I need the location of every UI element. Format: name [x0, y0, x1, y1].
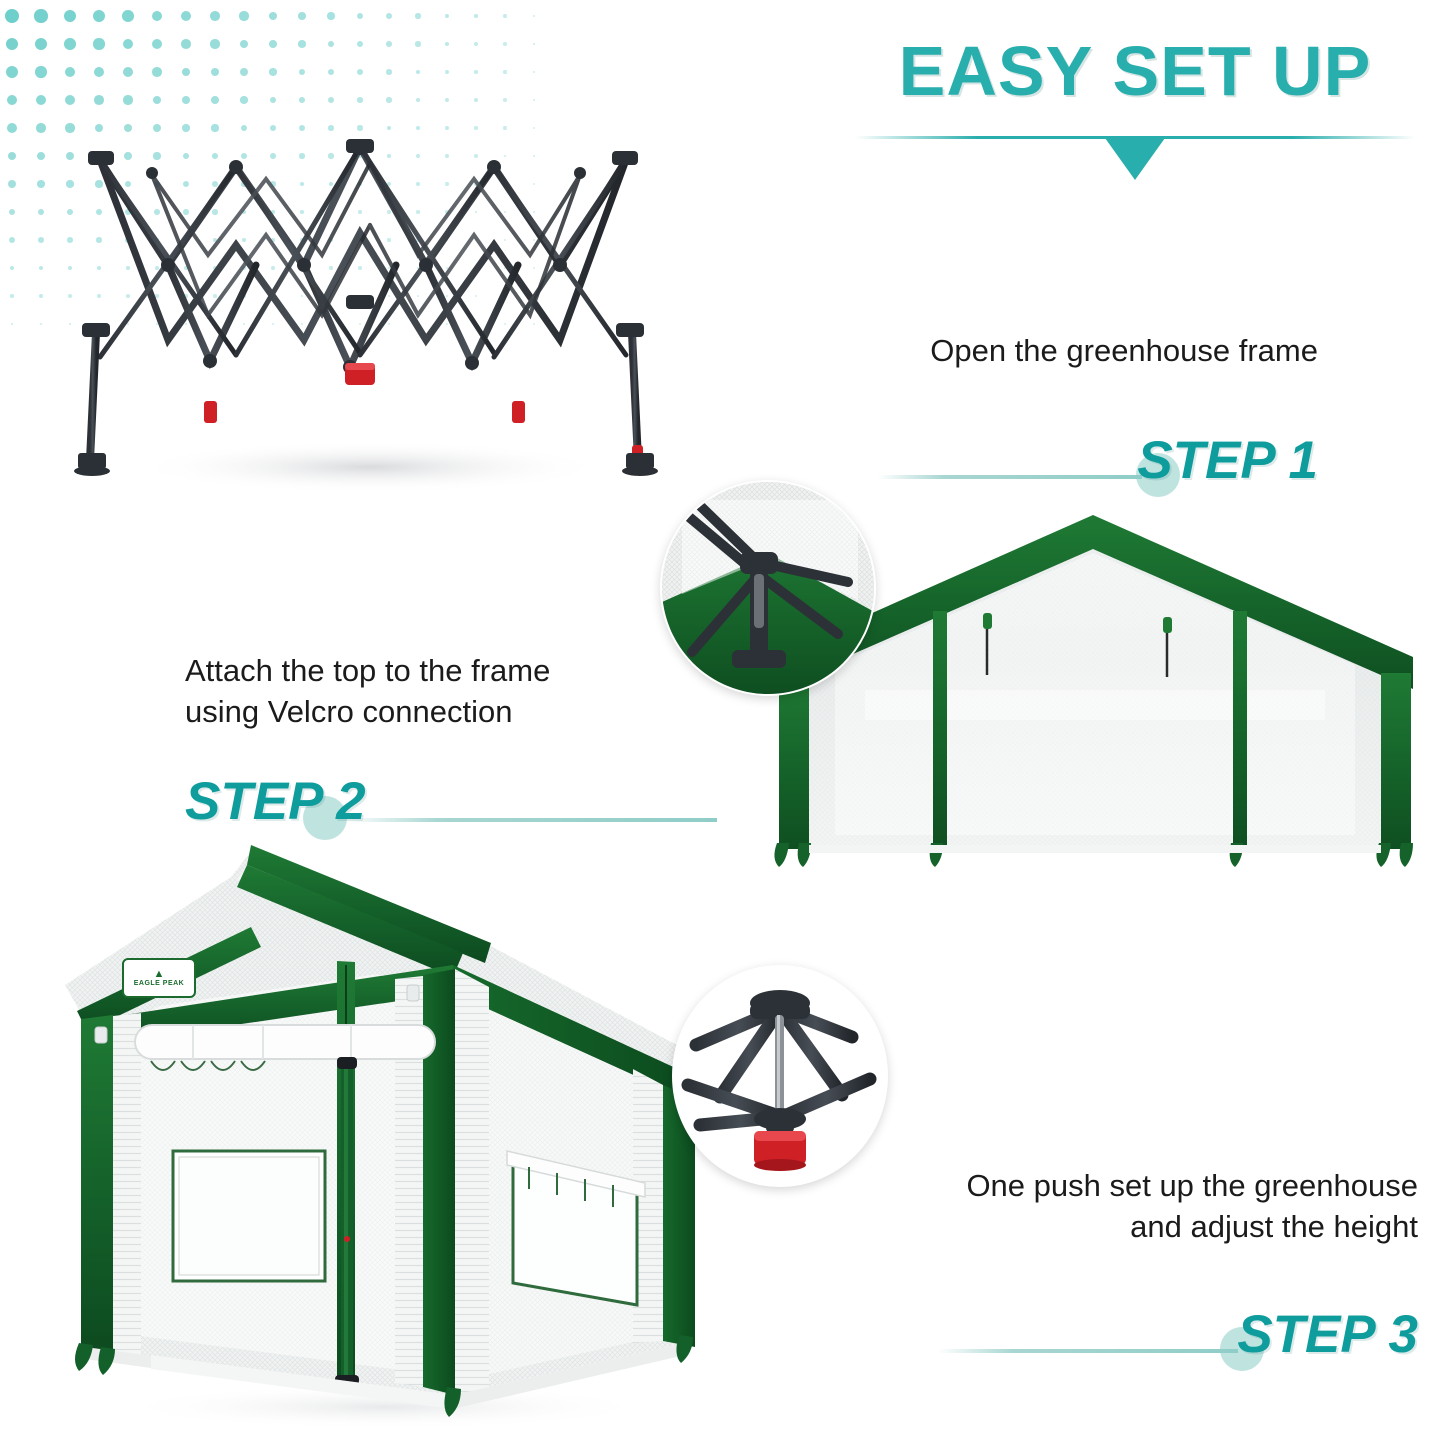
halftone-dot [65, 95, 75, 105]
halftone-dot [6, 38, 19, 51]
headline-divider [855, 136, 1415, 182]
halftone-dot [38, 237, 44, 243]
halftone-dot [328, 41, 335, 48]
halftone-dot [298, 40, 305, 47]
step-3-rule [938, 1349, 1238, 1353]
assembled-greenhouse-image [55, 835, 715, 1435]
halftone-dot [298, 12, 306, 20]
halftone-dot [10, 294, 14, 298]
halftone-dot [445, 70, 449, 74]
halftone-dot [328, 69, 334, 75]
halftone-dot [9, 237, 15, 243]
halftone-dot [39, 294, 43, 298]
halftone-dot [239, 11, 248, 20]
page-title: EASY SET UP [855, 36, 1415, 106]
halftone-dot [152, 39, 162, 49]
halftone-dot [35, 38, 47, 50]
step-1-label-row: STEP 1 [818, 405, 1318, 495]
halftone-dot [123, 39, 134, 50]
halftone-dot [181, 39, 191, 49]
headline-block: EASY SET UP [855, 36, 1415, 182]
halftone-dot [11, 323, 14, 326]
halftone-dot [94, 95, 104, 105]
step-2-label-row: STEP 2 [185, 748, 745, 836]
step-3-description: One push set up the greenhouse and adjus… [820, 1165, 1418, 1247]
step-1-block: Open the greenhouse frame STEP 1 [818, 330, 1318, 495]
step-2-description: Attach the top to the frame using Velcro… [185, 650, 745, 732]
halftone-dot [299, 97, 305, 103]
halftone-dot [37, 180, 45, 188]
halftone-dot [445, 98, 449, 102]
halftone-dot [36, 123, 46, 133]
halftone-dot [240, 96, 247, 103]
halftone-dot [8, 180, 16, 188]
step-1-rule [878, 475, 1142, 479]
halftone-dot [474, 70, 478, 74]
halftone-dot [533, 43, 536, 46]
halftone-dot [386, 97, 391, 102]
halftone-dot [35, 66, 46, 77]
halftone-dot [93, 38, 104, 49]
halftone-dot [269, 12, 277, 20]
step-3-label-row: STEP 3 [820, 1277, 1418, 1369]
halftone-dot [357, 13, 364, 20]
halftone-dot [152, 11, 163, 22]
halftone-dot [122, 10, 134, 22]
halftone-dot [474, 14, 478, 18]
step-2-rule [345, 818, 717, 822]
eagle-peak-logo-badge: ▲ EAGLE PEAK [122, 958, 196, 998]
halftone-dot [269, 68, 276, 75]
halftone-dot [328, 97, 334, 103]
halftone-dot [123, 67, 133, 77]
halftone-dot [64, 38, 76, 50]
halftone-dot [445, 14, 450, 19]
halftone-dot [9, 209, 16, 216]
halftone-dot [415, 13, 420, 18]
step-1-description: Open the greenhouse frame [818, 330, 1318, 371]
halftone-dot [181, 11, 191, 21]
step-3-label: STEP 3 [1237, 1308, 1418, 1361]
halftone-dot [211, 68, 219, 76]
halftone-dot [65, 67, 76, 78]
halftone-dot [64, 10, 77, 23]
center-push-hub-detail-callout [672, 965, 888, 1187]
halftone-dot [211, 96, 219, 104]
halftone-dot [299, 69, 306, 76]
halftone-dot [7, 123, 17, 133]
step-3-block: One push set up the greenhouse and adjus… [820, 1165, 1418, 1369]
halftone-dot [533, 71, 536, 74]
halftone-dot [182, 68, 191, 77]
halftone-dot [357, 69, 363, 75]
halftone-dot [210, 39, 219, 48]
halftone-dot [386, 69, 391, 74]
halftone-dot [386, 41, 392, 47]
halftone-dot [503, 42, 506, 45]
halftone-dot [415, 41, 420, 46]
halftone-dot [40, 323, 43, 326]
mountain-icon: ▲ [154, 969, 165, 980]
step-2-label: STEP 2 [185, 775, 366, 828]
halftone-dot [474, 42, 478, 46]
halftone-dot [357, 97, 362, 102]
halftone-dot [416, 70, 421, 75]
folded-greenhouse-frame-image [60, 105, 680, 495]
halftone-dot [533, 15, 536, 18]
red-hub [754, 1131, 806, 1171]
halftone-dot [474, 98, 478, 102]
halftone-dot [386, 13, 392, 19]
halftone-dot [39, 266, 44, 271]
halftone-dot [503, 70, 506, 73]
halftone-dot [503, 14, 507, 18]
halftone-dot [37, 152, 46, 161]
halftone-dot [8, 152, 17, 161]
halftone-dot [533, 99, 536, 102]
halftone-dot [10, 266, 15, 271]
halftone-dot [6, 66, 18, 78]
halftone-dot [327, 12, 334, 19]
halftone-dot [240, 40, 249, 49]
halftone-dot [38, 209, 45, 216]
halftone-dot [503, 98, 506, 101]
halftone-dot [34, 9, 47, 22]
halftone-dot [270, 97, 277, 104]
step-2-block: Attach the top to the frame using Velcro… [185, 650, 745, 836]
down-triangle-icon [1105, 138, 1165, 180]
halftone-dot [357, 41, 363, 47]
halftone-dot [269, 40, 277, 48]
halftone-dot [5, 9, 19, 23]
halftone-dot [152, 67, 161, 76]
step-1-label: STEP 1 [1137, 434, 1318, 487]
halftone-dot [7, 95, 18, 106]
halftone-dot [182, 96, 190, 104]
halftone-dot [153, 96, 162, 105]
brand-name: EAGLE PEAK [134, 980, 185, 987]
halftone-dot [123, 95, 132, 104]
halftone-dot [94, 67, 104, 77]
halftone-dot [240, 68, 248, 76]
halftone-dot [416, 98, 421, 103]
halftone-dot [93, 10, 105, 22]
halftone-dot [445, 42, 450, 47]
halftone-dot [210, 11, 220, 21]
halftone-dot [36, 95, 47, 106]
